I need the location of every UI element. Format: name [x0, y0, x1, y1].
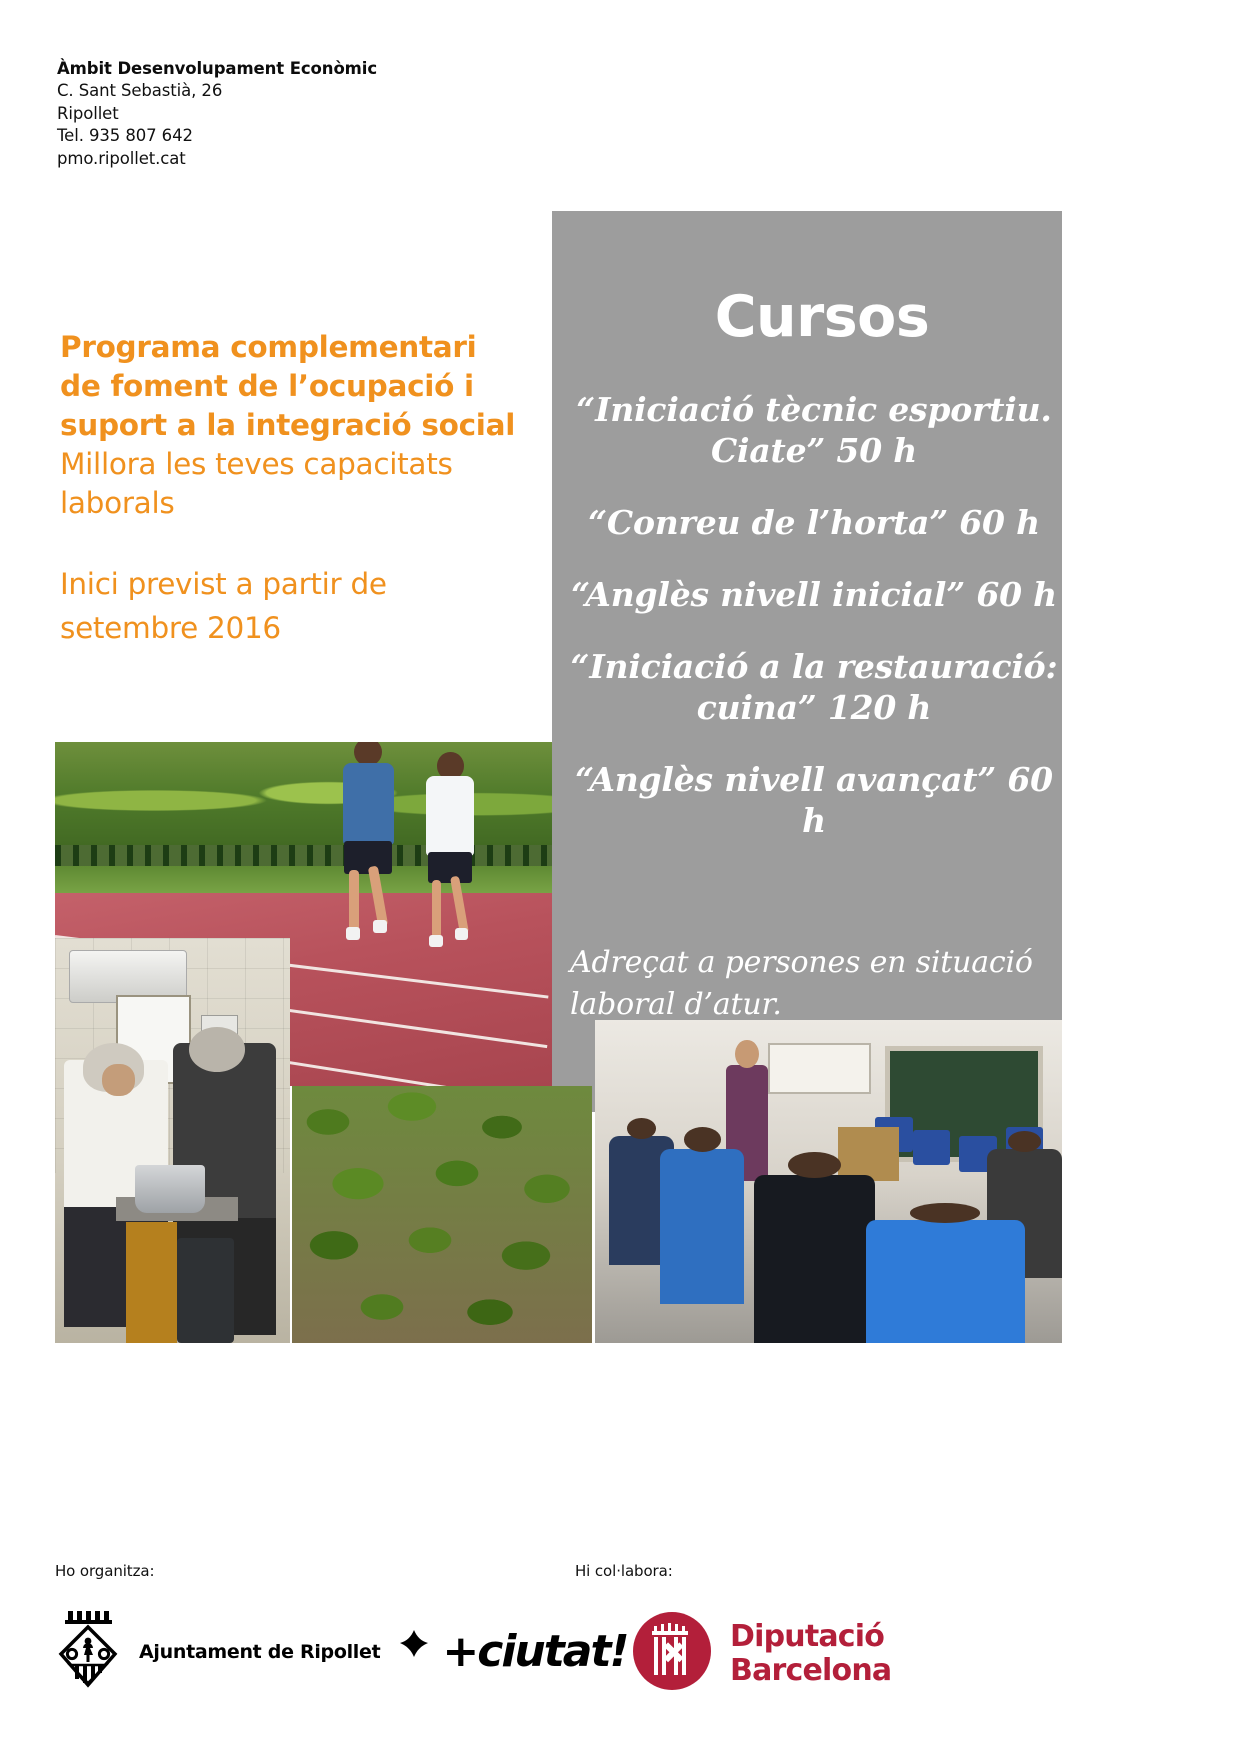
- courses-list: “Iniciació tècnic esportiu. Ciate” 50 h …: [566, 389, 1062, 872]
- target-audience-note: Adreçat a persones en situació laboral d…: [570, 942, 1062, 1026]
- diba-line-1: Diputació: [730, 1620, 891, 1654]
- start-date-line: setembre 2016: [60, 606, 460, 650]
- programme-title-line: de foment de l’ocupació i: [60, 367, 530, 406]
- diba-line-2: Barcelona: [730, 1654, 891, 1688]
- programme-subtitle-line: Millora les teves capacitats: [60, 445, 530, 484]
- address-line-website: pmo.ripollet.cat: [57, 148, 487, 171]
- collaborator-logos: Diputació Barcelona: [632, 1611, 1005, 1696]
- course-item: “Iniciació tècnic esportiu. Ciate” 50 h: [566, 389, 1062, 471]
- courses-panel-title: Cursos: [552, 284, 1062, 350]
- diputacio-barcelona-logo-text: Diputació Barcelona: [730, 1620, 891, 1688]
- collaborator-label: Hi col·labora:: [575, 1562, 1005, 1580]
- organisation-name: Àmbit Desenvolupament Econòmic: [57, 58, 487, 80]
- programme-description: Programa complementari de foment de l’oc…: [60, 328, 530, 523]
- programme-title-line: suport a la integració social: [60, 406, 530, 445]
- courses-panel: Cursos “Iniciació tècnic esportiu. Ciate…: [552, 211, 1062, 1112]
- ripollet-shield-icon: [55, 1607, 121, 1696]
- start-date-line: Inici previst a partir de: [60, 562, 460, 606]
- course-item: “Anglès nivell avançat” 60 h: [566, 759, 1062, 841]
- organizer-label: Ho organitza:: [55, 1562, 525, 1580]
- kitchen-workshop-photo: [55, 938, 290, 1343]
- collaborator-section: Hi col·labora:: [575, 1562, 1005, 1696]
- vegetable-garden-photo: [292, 1086, 592, 1343]
- organizer-section: Ho organitza:: [55, 1562, 525, 1696]
- diputacio-barcelona-seal-icon: [632, 1611, 712, 1696]
- address-line-phone: Tel. 935 807 642: [57, 125, 487, 148]
- ajuntament-logo-text: Ajuntament de Ripollet: [139, 1641, 380, 1663]
- course-item: “Iniciació a la restauració: cuina” 120 …: [566, 646, 1062, 728]
- organisation-header: Àmbit Desenvolupament Econòmic C. Sant S…: [57, 58, 487, 170]
- address-line-city: Ripollet: [57, 103, 487, 126]
- start-date-note: Inici previst a partir de setembre 2016: [60, 562, 460, 650]
- organizer-logos: Ajuntament de Ripollet +ciutat!: [55, 1607, 525, 1696]
- course-item: “Anglès nivell inicial” 60 h: [566, 574, 1062, 615]
- programme-title-line: Programa complementari: [60, 328, 530, 367]
- address-line-street: C. Sant Sebastià, 26: [57, 80, 487, 103]
- course-item: “Conreu de l’horta” 60 h: [566, 502, 1062, 543]
- programme-subtitle-line: laborals: [60, 484, 530, 523]
- classroom-photo: [595, 1020, 1062, 1343]
